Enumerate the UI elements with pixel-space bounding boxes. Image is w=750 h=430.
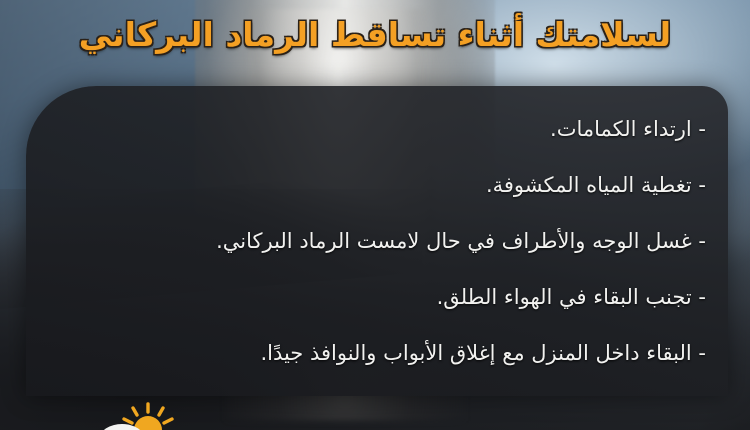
list-item: - البقاء داخل المنزل مع إغلاق الأبواب وا… [48, 330, 706, 376]
sun-cloud-weather-logo [86, 396, 206, 430]
list-item: - تغطية المياه المكشوفة. [48, 162, 706, 208]
tips-panel: - ارتداء الكمامات. - تغطية المياه المكشو… [26, 86, 728, 396]
page-title: لسلامتك أثناء تساقط الرماد البركاني [0, 18, 750, 53]
tips-list: - ارتداء الكمامات. - تغطية المياه المكشو… [48, 106, 706, 376]
list-item: - ارتداء الكمامات. [48, 106, 706, 152]
list-item: - غسل الوجه والأطراف في حال لامست الرماد… [48, 218, 706, 264]
list-item: - تجنب البقاء في الهواء الطلق. [48, 274, 706, 320]
poster-root: لسلامتك أثناء تساقط الرماد البركاني - ار… [0, 0, 750, 430]
